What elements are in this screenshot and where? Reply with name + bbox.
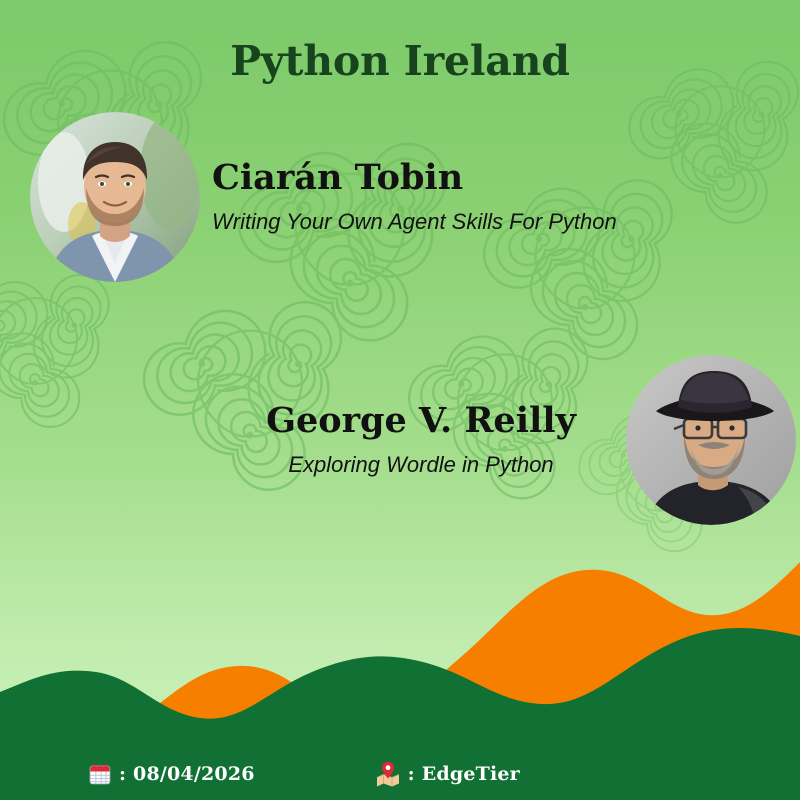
footer-venue-label: : EdgeTier: [408, 763, 520, 785]
page-title: Python Ireland: [0, 37, 800, 85]
speaker-row-2: George V. Reilly Exploring Wordle in Pyt…: [230, 355, 796, 525]
speaker-name: George V. Reilly: [230, 400, 612, 441]
footer-venue: : EdgeTier: [375, 761, 520, 787]
footer-date: : 08/04/2026: [88, 762, 255, 786]
avatar: [30, 112, 200, 282]
speaker-row-1: Ciarán Tobin Writing Your Own Agent Skil…: [30, 112, 617, 282]
speaker-talk-title: Exploring Wordle in Python: [230, 450, 612, 480]
speaker-talk-title: Writing Your Own Agent Skills For Python: [212, 207, 617, 237]
speaker-info: George V. Reilly Exploring Wordle in Pyt…: [230, 400, 612, 480]
avatar: [626, 355, 796, 525]
map-pin-icon: [375, 761, 401, 787]
speaker-name: Ciarán Tobin: [212, 157, 617, 198]
event-poster: Python Ireland: [0, 0, 800, 800]
speaker-info: Ciarán Tobin Writing Your Own Agent Skil…: [212, 157, 617, 237]
footer-date-label: : 08/04/2026: [119, 763, 255, 785]
calendar-icon: [88, 762, 112, 786]
poster-footer: : 08/04/2026 : EdgeTier: [0, 748, 800, 800]
